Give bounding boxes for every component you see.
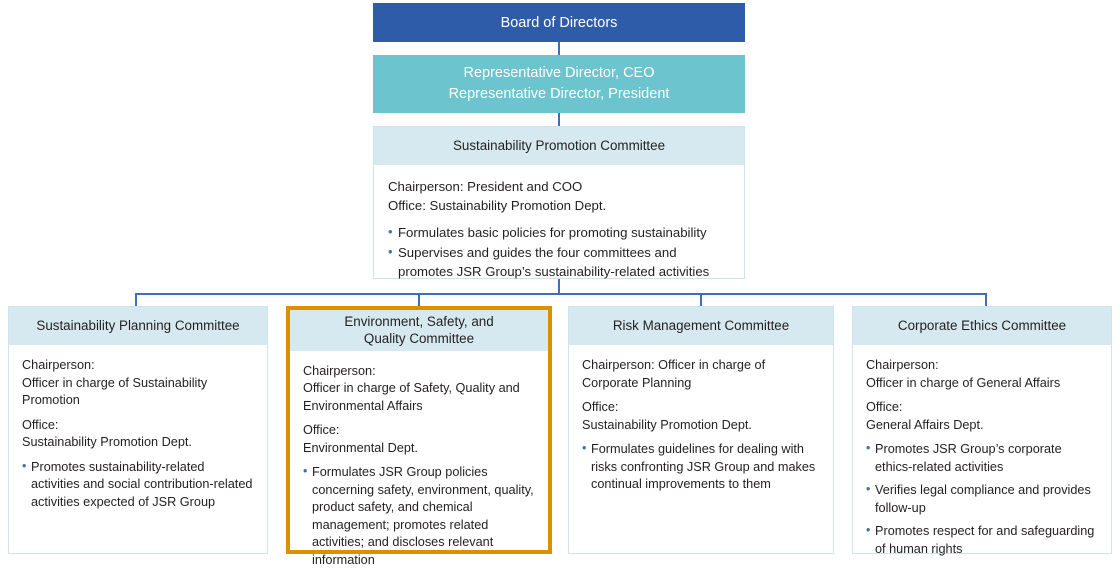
committee-2-chairperson-group: Chairperson: Officer in charge of Safety… — [303, 363, 536, 416]
list-item: Promotes sustainability-related activiti… — [22, 459, 255, 512]
committee-1-title-label: Sustainability Planning Committee — [36, 317, 239, 334]
list-item: Promotes respect for and safeguarding of… — [866, 523, 1099, 558]
committee-1-chairperson-value: Officer in charge of Sustainability Prom… — [22, 375, 255, 410]
committee-3-chairperson-value: Corporate Planning — [582, 375, 821, 393]
connector-horizontal-bus — [135, 293, 985, 295]
list-item: Formulates basic policies for promoting … — [388, 224, 730, 243]
committee-4-office-value: General Affairs Dept. — [866, 417, 1099, 435]
committee-1-office-value: Sustainability Promotion Dept. — [22, 434, 255, 452]
box-board-of-directors: Board of Directors — [373, 3, 745, 42]
committee-3-title-label: Risk Management Committee — [613, 317, 789, 334]
committee-3-office-value: Sustainability Promotion Dept. — [582, 417, 821, 435]
box-corporate-ethics-committee: Corporate Ethics Committee Chairperson: … — [852, 306, 1112, 554]
committee-4-title-label: Corporate Ethics Committee — [898, 317, 1066, 334]
committee-2-office-label: Office: — [303, 422, 536, 440]
committee-4-title: Corporate Ethics Committee — [853, 307, 1111, 345]
committee-2-chairperson-label: Chairperson: — [303, 363, 536, 381]
committee-2-title: Environment, Safety, and Quality Committ… — [290, 310, 548, 351]
list-item: Formulates JSR Group policies concerning… — [303, 464, 536, 569]
committee-3-chairperson-group: Chairperson: Officer in charge of Corpor… — [582, 357, 821, 392]
connector-board-to-ceo — [558, 42, 560, 55]
committee-2-title-line1: Environment, Safety, and — [344, 314, 493, 329]
org-chart: Board of Directors Representative Direct… — [0, 0, 1120, 560]
committee-3-office-label: Office: — [582, 399, 821, 417]
committee-4-body: Chairperson: Officer in charge of Genera… — [853, 345, 1111, 572]
box-sustainability-planning-committee: Sustainability Planning Committee Chairp… — [8, 306, 268, 554]
committee-1-office-label: Office: — [22, 417, 255, 435]
board-of-directors-label: Board of Directors — [501, 15, 618, 31]
committee-2-title-line2: Quality Committee — [364, 331, 474, 346]
representative-director-ceo-label: Representative Director, CEO — [464, 63, 655, 84]
connector-drop-committee-2 — [418, 293, 420, 306]
committee-3-office-group: Office: Sustainability Promotion Dept. — [582, 399, 821, 434]
box-sustainability-promotion-committee: Sustainability Promotion Committee Chair… — [373, 126, 745, 279]
committee-2-body: Chairperson: Officer in charge of Safety… — [290, 351, 548, 584]
committee-1-office-group: Office: Sustainability Promotion Dept. — [22, 417, 255, 452]
committee-1-bullet-list: Promotes sustainability-related activiti… — [22, 459, 255, 512]
spc-office: Office: Sustainability Promotion Dept. — [388, 197, 730, 216]
committee-2-office-group: Office: Environmental Dept. — [303, 422, 536, 457]
spc-title-label: Sustainability Promotion Committee — [453, 137, 665, 154]
committee-3-title: Risk Management Committee — [569, 307, 833, 345]
committee-2-chairperson-value: Officer in charge of Safety, Quality and… — [303, 380, 536, 415]
committee-3-body: Chairperson: Officer in charge of Corpor… — [569, 345, 833, 508]
connector-drop-committee-1 — [135, 293, 137, 306]
spc-body: Chairperson: President and COO Office: S… — [374, 165, 744, 293]
box-risk-management-committee: Risk Management Committee Chairperson: O… — [568, 306, 834, 554]
committee-1-title: Sustainability Planning Committee — [9, 307, 267, 345]
box-representative-director: Representative Director, CEO Representat… — [373, 55, 745, 113]
list-item: Supervises and guides the four committee… — [388, 244, 730, 281]
committee-3-chairperson-label: Chairperson: Officer in charge of — [582, 357, 821, 375]
committee-4-bullet-list: Promotes JSR Group’s corporate ethics-re… — [866, 441, 1099, 558]
committee-4-office-label: Office: — [866, 399, 1099, 417]
list-item: Promotes JSR Group’s corporate ethics-re… — [866, 441, 1099, 476]
box-environment-safety-quality-committee: Environment, Safety, and Quality Committ… — [286, 306, 552, 554]
committee-4-chairperson-group: Chairperson: Officer in charge of Genera… — [866, 357, 1099, 392]
spc-title: Sustainability Promotion Committee — [374, 127, 744, 165]
committee-3-bullet-list: Formulates guidelines for dealing with r… — [582, 441, 821, 494]
connector-ceo-to-spc — [558, 113, 560, 126]
committee-4-chairperson-value: Officer in charge of General Affairs — [866, 375, 1099, 393]
committee-2-title-wrapper: Environment, Safety, and Quality Committ… — [344, 313, 493, 348]
committee-2-bullet-list: Formulates JSR Group policies concerning… — [303, 464, 536, 569]
spc-bullet-list: Formulates basic policies for promoting … — [388, 224, 730, 281]
connector-drop-committee-4 — [985, 293, 987, 306]
committee-4-chairperson-label: Chairperson: — [866, 357, 1099, 375]
spc-chairperson: Chairperson: President and COO — [388, 178, 730, 197]
list-item: Formulates guidelines for dealing with r… — [582, 441, 821, 494]
committee-1-chairperson-label: Chairperson: — [22, 357, 255, 375]
list-item: Verifies legal compliance and provides f… — [866, 482, 1099, 517]
committee-2-office-value: Environmental Dept. — [303, 440, 536, 458]
representative-director-president-label: Representative Director, President — [449, 84, 670, 105]
connector-drop-committee-3 — [700, 293, 702, 306]
committee-1-chairperson-group: Chairperson: Officer in charge of Sustai… — [22, 357, 255, 410]
committee-1-body: Chairperson: Officer in charge of Sustai… — [9, 345, 267, 525]
committee-4-office-group: Office: General Affairs Dept. — [866, 399, 1099, 434]
